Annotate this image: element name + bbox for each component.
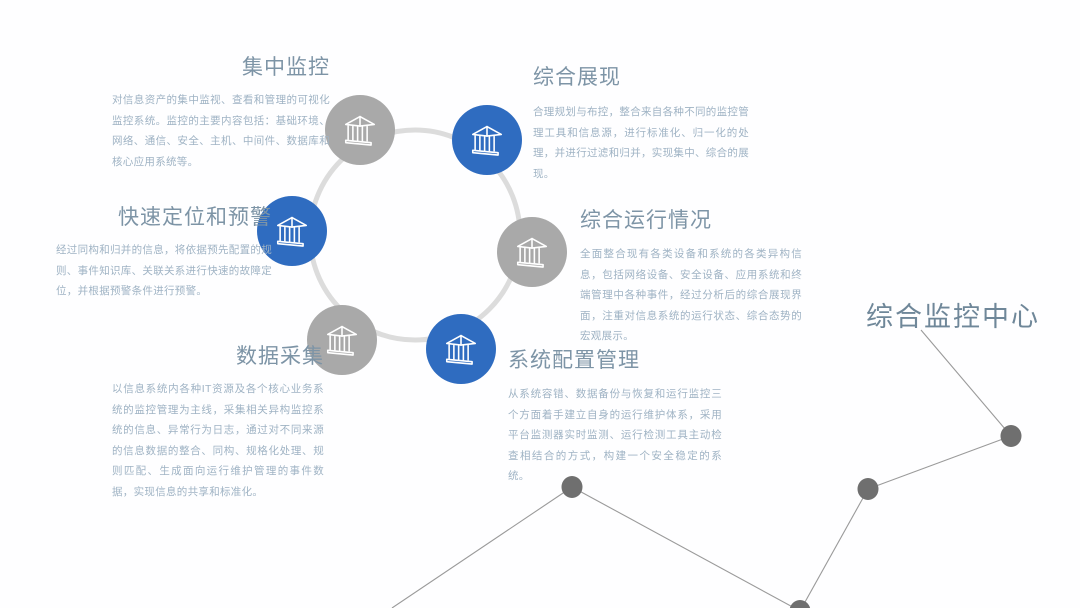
section-integrated-operation-status: 综合运行情况 全面整合现有各类设备和系统的各类异构信息，包括网络设备、安全设备、… [580,208,802,347]
section-body: 合理规划与布控，整合来自各种不同的监控管理工具和信息源，进行标准化、归一化的处理… [533,102,749,184]
bank-pillar-icon [341,111,379,149]
section-body: 经过同构和归并的信息，将依据预先配置的规则、事件知识库、关联关系进行快速的故障定… [56,240,272,301]
section-title: 综合运行情况 [580,208,802,233]
section-title: 集中监控 [112,55,330,80]
bank-pillar-icon [442,330,480,368]
node-integrated-operation-status[interactable] [497,217,567,287]
bank-pillar-icon [513,233,551,271]
section-body: 对信息资产的集中监视、查看和管理的可视化监控系统。监控的主要内容包括：基础环境、… [112,90,330,172]
section-body: 从系统容错、数据备份与恢复和运行监控三个方面着手建立自身的运行维护体系，采用平台… [508,384,722,486]
section-body: 以信息系统内各种IT资源及各个核心业务系统的监控管理为主线，采集相关异构监控系统… [112,379,324,502]
section-data-collection: 数据采集 以信息系统内各种IT资源及各个核心业务系统的监控管理为主线，采集相关异… [112,344,324,502]
center-label: 综合监控中心 [866,295,1040,334]
bank-pillar-icon [468,121,506,159]
node-centralized-monitoring[interactable] [325,95,395,165]
section-centralized-monitoring: 集中监控 对信息资产的集中监视、查看和管理的可视化监控系统。监控的主要内容包括：… [112,55,330,172]
node-integrated-presentation[interactable] [452,105,522,175]
section-title: 快速定位和预警 [56,205,272,230]
section-body: 全面整合现有各类设备和系统的各类异构信息，包括网络设备、安全设备、应用系统和终端… [580,244,802,346]
section-title: 数据采集 [112,344,324,369]
section-fast-locating-and-alerting: 快速定位和预警 经过同构和归并的信息，将依据预先配置的规则、事件知识库、关联关系… [56,205,272,302]
section-integrated-presentation: 综合展现 合理规划与布控，整合来自各种不同的监控管理工具和信息源，进行标准化、归… [533,65,749,184]
bank-pillar-icon [273,212,311,250]
section-title: 综合展现 [533,65,749,90]
section-title: 系统配置管理 [508,348,722,373]
infographic-canvas: 集中监控 对信息资产的集中监视、查看和管理的可视化监控系统。监控的主要内容包括：… [0,0,1080,608]
section-system-configuration-management: 系统配置管理 从系统容错、数据备份与恢复和运行监控三个方面着手建立自身的运行维护… [508,348,722,487]
bank-pillar-icon [323,321,361,359]
node-system-configuration-management[interactable] [426,314,496,384]
